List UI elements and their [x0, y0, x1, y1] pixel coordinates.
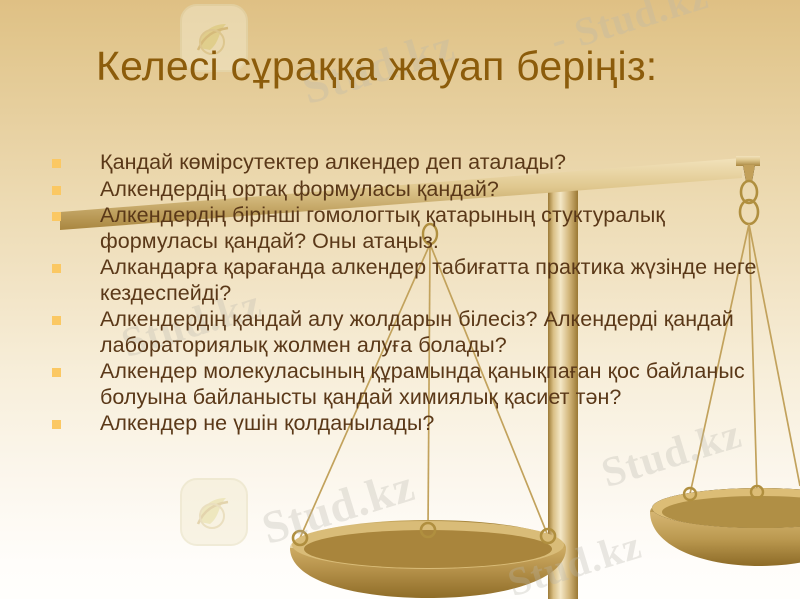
- list-item-text: Алкендердің ортақ формуласы қандай?: [100, 177, 764, 203]
- list-item: Алкандарға қарағанда алкендер табиғатта …: [44, 255, 764, 306]
- bullet-square-icon: [52, 186, 61, 195]
- presentation-slide: Stud.kz - Stud.kz Stud.kz Stud.kz Stud.k…: [0, 0, 800, 599]
- list-item: Алкендер молекуласының құрамында қанықпа…: [44, 359, 764, 410]
- site-logo-watermark-bottom-icon: [178, 476, 250, 548]
- watermark-text: Stud.kz: [502, 521, 647, 599]
- bullet-square-icon: [52, 316, 61, 325]
- list-item: Алкендер не үшін қолданылады?: [44, 411, 764, 437]
- list-item-text: Алкандарға қарағанда алкендер табиғатта …: [100, 255, 764, 306]
- bullet-square-icon: [52, 264, 61, 273]
- list-item-text: Алкендердің бірінші гомологтық қатарының…: [100, 203, 764, 254]
- list-item-text: Алкендер молекуласының құрамында қанықпа…: [100, 359, 764, 410]
- list-item: Қандай көмірсутектер алкендер деп аталад…: [44, 150, 764, 176]
- list-item-text: Қандай көмірсутектер алкендер деп аталад…: [100, 150, 764, 176]
- list-item: Алкендердің қандай алу жолдарын білесіз?…: [44, 307, 764, 358]
- list-item-text: Алкендердің қандай алу жолдарын білесіз?…: [100, 307, 764, 358]
- list-item: Алкендердің бірінші гомологтық қатарының…: [44, 203, 764, 254]
- slide-title: Келесі сұраққа жауап беріңіз:: [96, 44, 756, 90]
- bullet-square-icon: [52, 212, 61, 221]
- list-item: Алкендердің ортақ формуласы қандай?: [44, 177, 764, 203]
- bullet-square-icon: [52, 368, 61, 377]
- question-list: Қандай көмірсутектер алкендер деп аталад…: [44, 150, 764, 438]
- watermark-text: Stud.kz: [256, 458, 421, 554]
- bullet-square-icon: [52, 420, 61, 429]
- bullet-square-icon: [52, 159, 61, 168]
- list-item-text: Алкендер не үшін қолданылады?: [100, 411, 764, 437]
